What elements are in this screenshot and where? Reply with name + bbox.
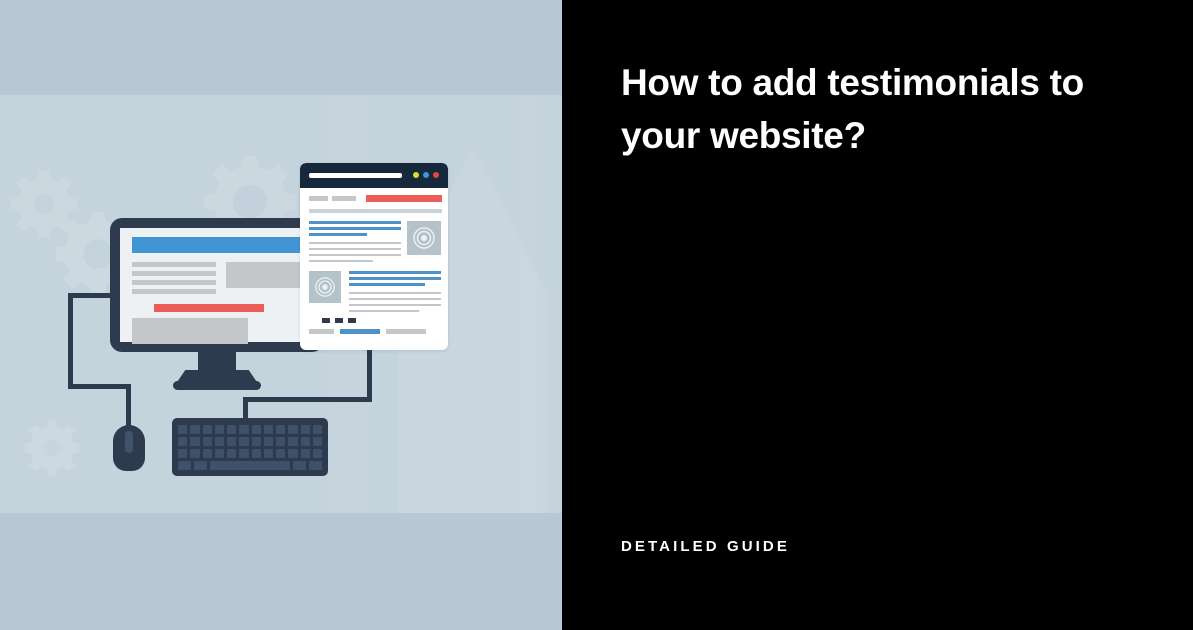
mouse-wheel: [125, 431, 133, 453]
browser-dot-blue: [423, 172, 429, 178]
keyboard: [172, 418, 328, 476]
target-icon: [314, 276, 336, 298]
cable-keyboard-across: [243, 397, 372, 402]
browser-url-bar: [309, 173, 402, 178]
browser-headline-lines-2: [349, 271, 441, 289]
browser-titlebar: [300, 163, 448, 188]
gear-icon-small-lower: [22, 418, 82, 478]
cable-keyboard-right: [367, 350, 372, 402]
browser-headline-lines-1: [309, 221, 401, 239]
browser-footer-item-3: [386, 329, 426, 334]
text-panel: How to add testimonials to your website?…: [562, 0, 1193, 630]
blog-cover-card: How to add testimonials to your website?…: [0, 0, 1193, 630]
monitor-image-placeholder: [226, 262, 302, 288]
monitor-content-block: [132, 318, 248, 344]
illustration-panel: [0, 0, 562, 630]
guide-kicker-label: DETAILED GUIDE: [621, 538, 790, 555]
desktop-monitor: [110, 218, 324, 352]
browser-body-lines-1: [309, 242, 401, 266]
cable-mouse-down: [126, 384, 131, 428]
browser-divider: [309, 209, 442, 213]
keyboard-row: [178, 437, 322, 446]
monitor-screen: [120, 228, 314, 342]
browser-image-placeholder-1: [407, 221, 441, 255]
cable-mouse-bottom: [68, 384, 131, 389]
monitor-base-foot: [173, 381, 261, 390]
monitor-text-lines: [132, 262, 216, 298]
browser-footer-item-2: [340, 329, 380, 334]
cable-mouse-left: [68, 293, 73, 389]
browser-dot-red: [433, 172, 439, 178]
target-icon: [412, 226, 436, 250]
browser-accent-bar: [366, 195, 442, 202]
browser-footer-item-1: [309, 329, 334, 334]
monitor-accent-bar: [154, 304, 264, 312]
browser-dot-yellow: [413, 172, 419, 178]
page-title: How to add testimonials to your website?: [621, 57, 1141, 162]
keyboard-keys: [178, 425, 322, 473]
browser-image-placeholder-2: [309, 271, 341, 303]
mouse: [113, 425, 145, 471]
cable-mouse-top: [68, 293, 116, 298]
cable-dashed-segment: [322, 318, 356, 323]
keyboard-row: [178, 425, 322, 434]
keyboard-row: [178, 449, 322, 458]
keyboard-row: [178, 461, 322, 470]
monitor-header-bar: [132, 237, 302, 253]
browser-body-lines-2: [349, 292, 441, 316]
